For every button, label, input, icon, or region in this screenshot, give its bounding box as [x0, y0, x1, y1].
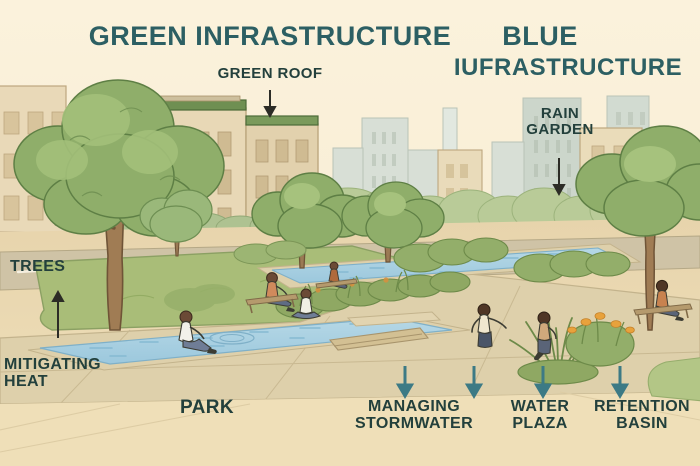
scene-artwork	[0, 0, 700, 466]
foreground-ground	[0, 392, 700, 466]
illustration-canvas: GREEN INFRASTRUCTURE BLUE IUFRASTRUCTURE…	[0, 0, 700, 466]
